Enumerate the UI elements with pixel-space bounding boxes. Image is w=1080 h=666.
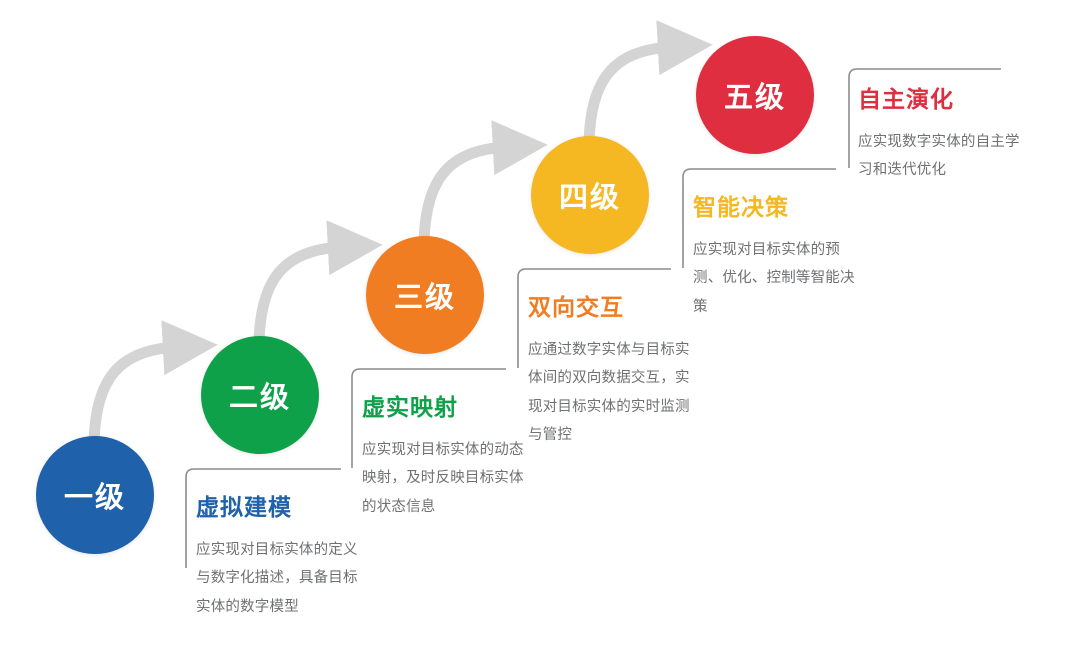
level-body-5: 应实现数字实体的自主学 习和迭代优化 (858, 128, 1080, 185)
level-block-4: 智能决策 应实现对目标实体的预 测、优化、控制等智能决 策 (693, 188, 933, 321)
level-badge-2[interactable]: 二级 (201, 336, 319, 454)
level-badge-1[interactable]: 一级 (36, 436, 154, 554)
level-title-4: 智能决策 (693, 188, 933, 222)
level-block-5: 自主演化 应实现数字实体的自主学 习和迭代优化 (858, 80, 1080, 185)
level-body-4: 应实现对目标实体的预 测、优化、控制等智能决 策 (693, 236, 933, 321)
level-body-1: 应实现对目标实体的定义 与数字化描述，具备目标 实体的数字模型 (196, 536, 436, 621)
level-title-5: 自主演化 (858, 80, 1080, 114)
level-body-3: 应通过数字实体与目标实 体间的双向数据交互，实 现对目标实体的实时监测 与管控 (528, 336, 768, 449)
arrow-2-to-3 (259, 247, 341, 348)
level-badge-4[interactable]: 四级 (531, 136, 649, 254)
arrow-1-to-2 (94, 347, 176, 448)
maturity-model-diagram: 一级 虚拟建模 应实现对目标实体的定义 与数字化描述，具备目标 实体的数字模型 … (0, 0, 1080, 666)
level-badge-5[interactable]: 五级 (696, 36, 814, 154)
arrow-4-to-5 (589, 47, 671, 148)
level-badge-3[interactable]: 三级 (366, 236, 484, 354)
arrow-3-to-4 (424, 147, 506, 248)
